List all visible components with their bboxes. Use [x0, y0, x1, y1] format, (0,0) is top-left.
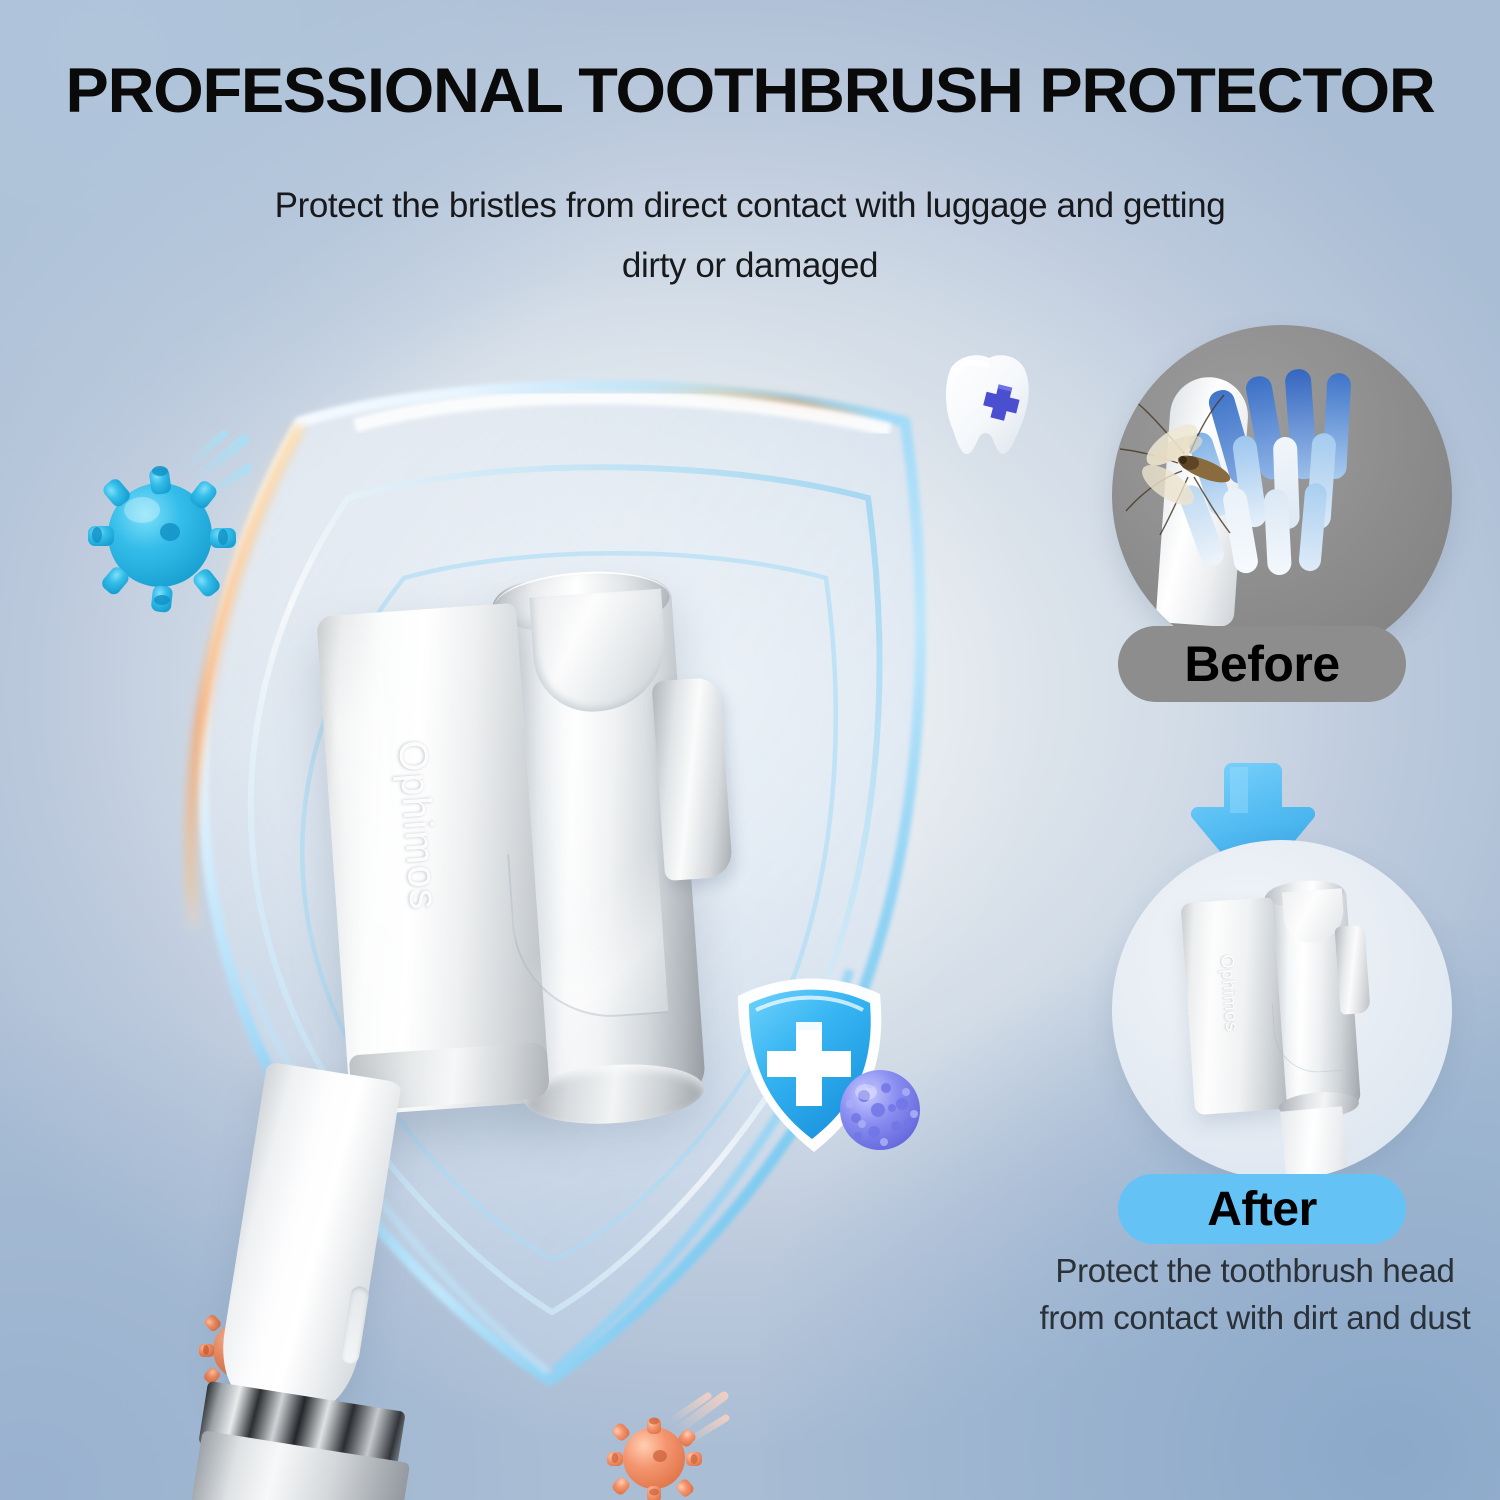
blue-virus-germ-icon: [72, 430, 252, 630]
before-panel-circle: [1112, 325, 1452, 665]
subtitle-line-1: Protect the bristles from direct contact…: [120, 176, 1380, 236]
before-label-badge: Before: [1118, 626, 1406, 702]
subtitle-line-2: dirty or damaged: [120, 236, 1380, 296]
page-subtitle: Protect the bristles from direct contact…: [120, 176, 1380, 296]
insect-icon: [1120, 393, 1270, 543]
mini-product-clip: [1335, 925, 1371, 1015]
after-caption-line-2: from contact with dirt and dust: [1010, 1295, 1500, 1342]
after-caption-line-1: Protect the toothbrush head: [1010, 1248, 1500, 1295]
product-clip: [651, 677, 733, 881]
mini-toothbrush-stem: [1280, 1106, 1352, 1180]
electric-toothbrush-handle: [150, 1070, 490, 1500]
after-label-badge: After: [1118, 1174, 1406, 1244]
after-product-protector: Ophimos: [1180, 875, 1407, 1139]
page-title: PROFESSIONAL TOOTHBRUSH PROTECTOR: [0, 58, 1500, 124]
after-panel-circle: Ophimos: [1112, 840, 1452, 1180]
tooth-with-cross-icon: [915, 338, 1055, 478]
after-panel-caption: Protect the toothbrush head from contact…: [1010, 1248, 1500, 1342]
product-marketing-image: PROFESSIONAL TOOTHBRUSH PROTECTOR Protec…: [0, 0, 1500, 1500]
bristle-tuft: [1298, 482, 1328, 572]
toothbrush-neck: [214, 1061, 402, 1418]
orange-virus-germ-icon: [596, 1396, 726, 1500]
